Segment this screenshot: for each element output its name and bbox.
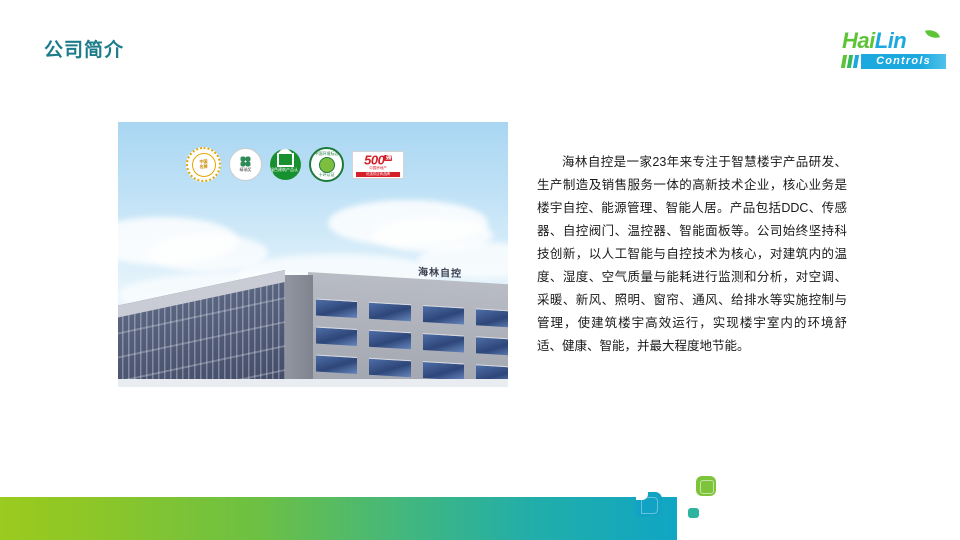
window-row bbox=[316, 298, 508, 327]
footer-small-square bbox=[688, 508, 699, 518]
footer-green-square bbox=[696, 476, 716, 496]
certification-badge-row: 中国 名牌 精瑞奖 绿色建筑产品认证 中国环境标志 十环认证 500强 bbox=[186, 147, 404, 182]
gold-award-badge: 中国 名牌 bbox=[186, 147, 221, 182]
flower-icon bbox=[240, 156, 251, 167]
slide-company-profile: 公司简介 HaiLin Controls 中国 名牌 bbox=[0, 0, 960, 540]
company-building-photo: 中国 名牌 精瑞奖 绿色建筑产品认证 中国环境标志 十环认证 500强 bbox=[118, 122, 508, 387]
green-building-badge-label: 绿色建筑产品认证 bbox=[270, 168, 301, 177]
logo-word-lin: Lin bbox=[875, 28, 907, 53]
gold-award-badge-line2: 名牌 bbox=[200, 165, 208, 169]
leaf-icon bbox=[925, 28, 940, 41]
hailin-controls-logo: HaiLin Controls bbox=[842, 30, 946, 72]
logo-wordmark: HaiLin bbox=[842, 30, 946, 53]
green-building-badge: 绿色建筑产品认证 bbox=[270, 149, 301, 180]
footer-gradient-bar bbox=[0, 497, 677, 540]
logo-tagline-text: Controls bbox=[861, 54, 946, 69]
building-right-wing bbox=[308, 272, 508, 387]
page-title: 公司简介 bbox=[44, 41, 124, 60]
quality-seal-badge: 精瑞奖 bbox=[229, 148, 262, 181]
environment-label-badge: 中国环境标志 十环认证 bbox=[309, 147, 344, 182]
globe-icon bbox=[319, 157, 335, 173]
top-500-badge: 500强 中国房地产 优选供应商品牌 bbox=[352, 151, 404, 179]
environment-label-badge-line2: 十环认证 bbox=[319, 173, 335, 177]
house-icon bbox=[277, 153, 294, 167]
top-500-badge-strip: 优选供应商品牌 bbox=[356, 172, 400, 177]
quality-seal-badge-label: 精瑞奖 bbox=[240, 168, 252, 172]
building-rooftop-sign: 海林自控 bbox=[418, 263, 462, 280]
ground-strip bbox=[118, 379, 508, 387]
logo-word-hai: Hai bbox=[842, 28, 875, 53]
window-row bbox=[316, 326, 508, 355]
bars-icon bbox=[842, 55, 858, 68]
top-500-badge-number: 500 bbox=[364, 152, 384, 167]
company-profile-paragraph: 海林自控是一家23年来专注于智慧楼宇产品研发、生产制造及销售服务一体的高新技术企… bbox=[537, 151, 847, 358]
top-500-badge-sub: 中国房地产 bbox=[369, 166, 387, 171]
top-500-badge-sup: 强 bbox=[384, 155, 392, 161]
environment-label-badge-line1: 中国环境标志 bbox=[315, 152, 339, 156]
logo-tagline-bar: Controls bbox=[842, 53, 946, 69]
